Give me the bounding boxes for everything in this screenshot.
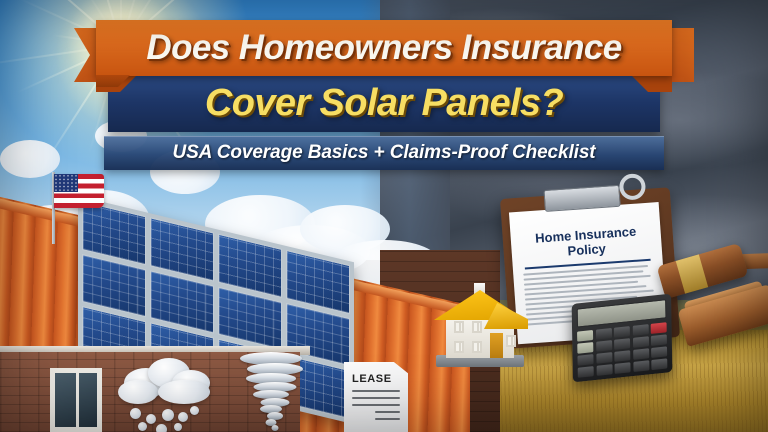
calculator-key: [577, 342, 593, 353]
hailstone: [174, 423, 182, 431]
calculator-key: [632, 324, 648, 335]
calculator-key: [614, 363, 630, 374]
house-model-window: [506, 335, 516, 347]
calculator-key: [632, 336, 648, 347]
lease-label: LEASE: [352, 373, 400, 385]
calculator-key: [595, 328, 611, 339]
headline-banner-orange: Does Homeowners Insurance: [96, 20, 672, 76]
calculator-key: [577, 354, 593, 365]
hailstone: [130, 408, 141, 419]
lease-text-line: [352, 397, 400, 399]
calculator-key: [614, 326, 630, 337]
lease-text-line: [352, 404, 400, 406]
tornado-icon: [236, 352, 310, 432]
hailstone: [190, 406, 199, 415]
headline-line-2: Cover Solar Panels?: [205, 82, 563, 125]
hailstone: [178, 412, 188, 422]
calculator-key: [596, 340, 612, 351]
lease-document-icon: LEASE: [344, 362, 408, 432]
cloud: [0, 140, 60, 178]
lease-text-line: [352, 390, 400, 392]
headline-banner-navy: Cover Solar Panels?: [108, 74, 660, 132]
calculator-icon: [572, 294, 673, 383]
hailstone: [156, 424, 167, 432]
cloud-puff: [118, 380, 158, 404]
house-model-icon: [432, 281, 528, 367]
usa-flag-canton: [54, 174, 78, 192]
hero-graphic: Home Insurance Policy LEASE: [0, 0, 768, 432]
lease-text-line: [375, 411, 400, 413]
calculator-key: [614, 350, 630, 361]
calculator-key: [633, 361, 649, 372]
house-model-window: [472, 341, 482, 353]
subtitle-text: USA Coverage Basics + Claims-Proof Check…: [172, 142, 595, 164]
hail-cloud-icon: [118, 354, 214, 432]
hailstone: [146, 414, 156, 424]
calculator-key: [651, 334, 667, 345]
calculator-key: [578, 366, 594, 377]
lease-body-lines: [352, 390, 400, 420]
cloud-puff: [158, 380, 210, 404]
calculator-key: [633, 349, 649, 360]
calculator-key: [651, 322, 667, 333]
calculator-key: [577, 330, 593, 341]
clipboard-ring: [619, 173, 647, 201]
hailstone: [162, 409, 174, 421]
house-window: [50, 368, 102, 432]
tornado-band: [272, 425, 279, 431]
house-model-window: [454, 341, 464, 353]
headline-line-1: Does Homeowners Insurance: [146, 28, 621, 68]
calculator-keypad: [577, 322, 667, 378]
calculator-key: [651, 347, 667, 358]
calculator-key: [596, 365, 612, 376]
calculator-key: [596, 352, 612, 363]
hailstone: [138, 422, 147, 431]
subtitle-bar: USA Coverage Basics + Claims-Proof Check…: [104, 136, 664, 170]
house-model-window: [454, 321, 464, 333]
lease-text-line: [375, 418, 400, 420]
house-model-door: [490, 333, 503, 358]
calculator-key: [651, 359, 667, 370]
calculator-key: [614, 338, 630, 349]
house-model-window: [472, 321, 482, 333]
